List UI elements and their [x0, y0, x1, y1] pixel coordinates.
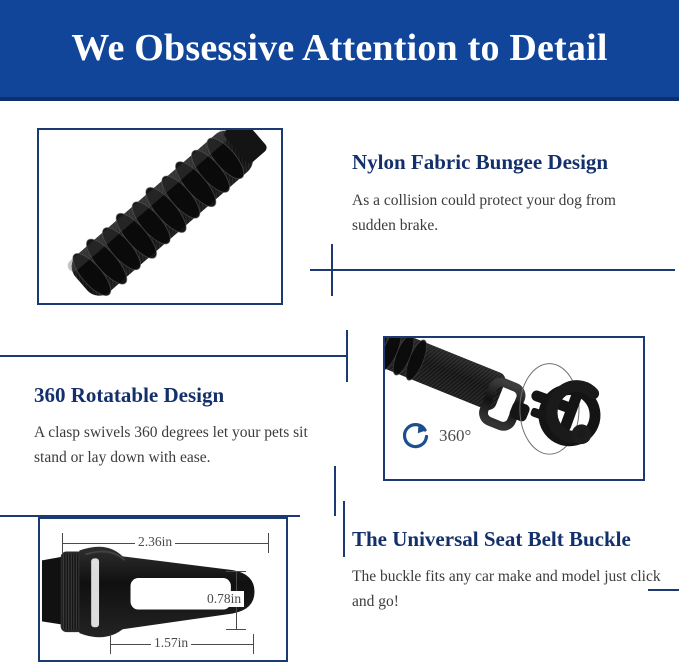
feature-title-buckle: The Universal Seat Belt Buckle	[352, 527, 631, 552]
dimension-cap-top-left	[62, 533, 63, 553]
rotate-360-icon	[403, 420, 433, 452]
feature-image-buckle: 2.36in 0.78in 1.57in	[38, 517, 288, 662]
dimension-cap-bottom-left	[110, 634, 111, 654]
rotate-360-label: 360°	[439, 426, 471, 446]
feature-title-bungee: Nylon Fabric Bungee Design	[352, 150, 608, 175]
dimension-cap-bottom-right	[253, 634, 254, 654]
infographic-root: We Obsessive Attention to Detail	[0, 0, 679, 672]
page-title: We Obsessive Attention to Detail	[0, 22, 679, 74]
divider-v-lower-b	[343, 501, 345, 557]
feature-title-rotatable: 360 Rotatable Design	[34, 383, 224, 408]
feature-body-rotatable: A clasp swivels 360 degrees let your pet…	[34, 420, 329, 470]
dimension-cap-top-right	[268, 533, 269, 553]
feature-body-buckle: The buckle fits any car make and model j…	[352, 564, 664, 614]
swivel-clasp-illustration	[385, 338, 643, 481]
dimension-label-height-right: 0.78in	[204, 591, 244, 607]
feature-image-clasp: 360°	[383, 336, 645, 481]
divider-v-mid	[346, 330, 348, 382]
bungee-cord-illustration	[39, 130, 281, 304]
divider-h-mid	[0, 355, 347, 357]
dimension-label-width-top: 2.36in	[135, 534, 175, 550]
dimension-cap-right-top	[226, 571, 246, 572]
divider-tick-right-mid	[648, 589, 679, 591]
header-underline	[0, 97, 679, 101]
rotate-360-badge: 360°	[403, 420, 471, 452]
divider-v-upper	[331, 244, 333, 296]
dimension-label-width-bottom: 1.57in	[151, 635, 191, 651]
divider-h-upper	[310, 269, 675, 271]
divider-v-lower-a	[334, 466, 336, 516]
dimension-cap-right-bottom	[226, 629, 246, 630]
feature-image-bungee	[37, 128, 283, 305]
feature-body-bungee: As a collision could protect your dog fr…	[352, 188, 662, 238]
